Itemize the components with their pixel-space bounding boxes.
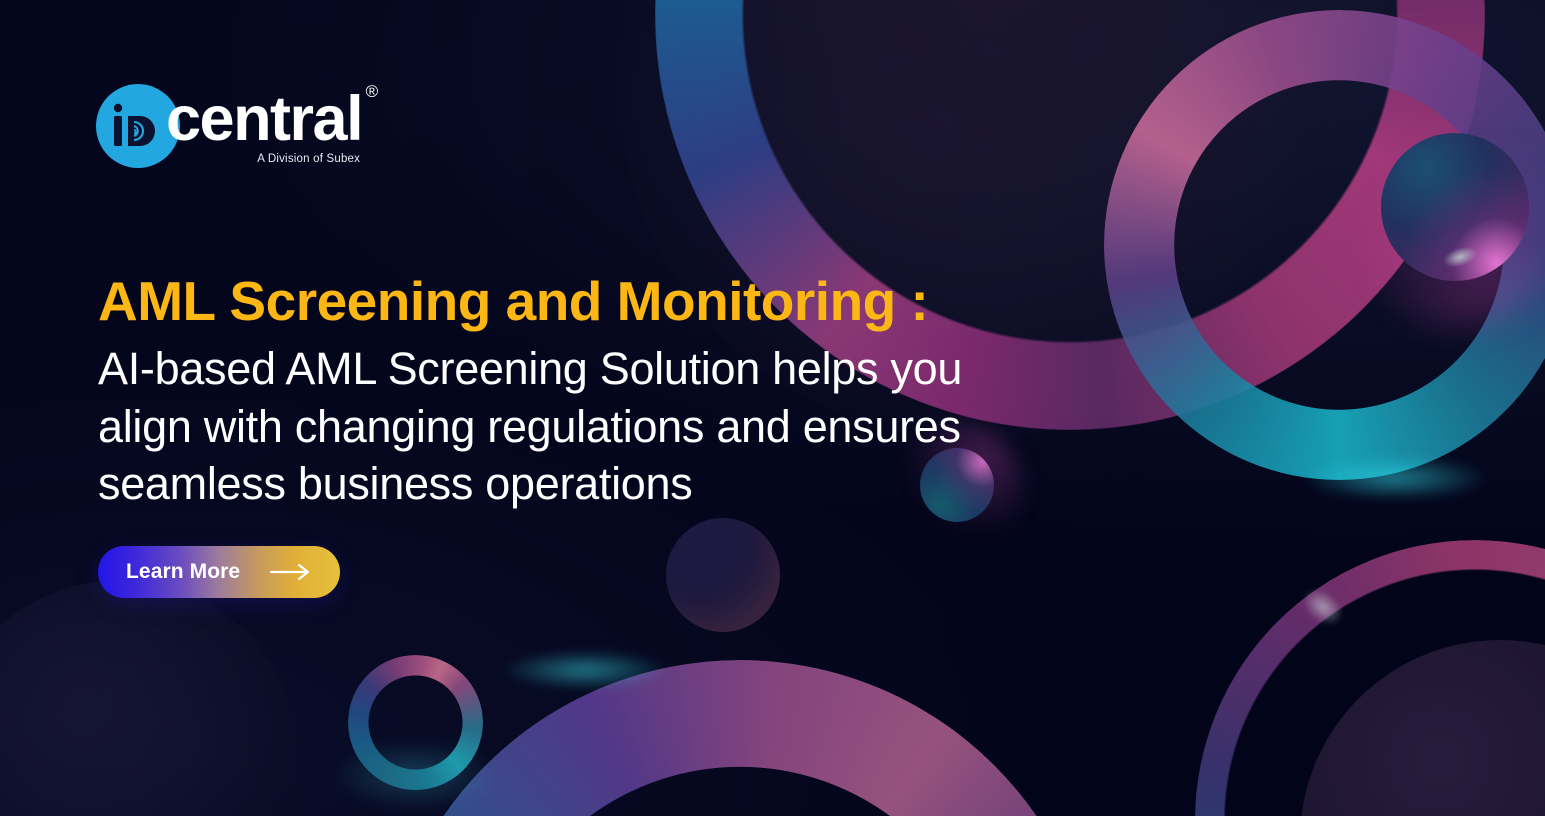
gradient-torus-left xyxy=(348,655,483,790)
registered-trademark-icon: ® xyxy=(366,82,379,102)
brand-logo[interactable]: central ® A Division of Subex xyxy=(96,84,362,168)
sphere-right-specular xyxy=(1441,243,1479,271)
sphere-right-halo xyxy=(1355,100,1545,330)
arrow-right-icon xyxy=(270,563,312,581)
dark-sphere-center xyxy=(666,518,780,632)
brand-tagline: A Division of Subex xyxy=(166,153,362,165)
ring-bottom-right-specular xyxy=(1296,581,1351,633)
page-subtitle: AI-based AML Screening Solution helps yo… xyxy=(98,340,1058,513)
hero-copy: AML Screening and Monitoring : AI-based … xyxy=(98,272,1098,513)
learn-more-label: Learn More xyxy=(126,560,240,584)
page-title: AML Screening and Monitoring : xyxy=(98,272,1098,330)
outline-circle-bottom-glow xyxy=(500,650,670,690)
outline-circle-right-glow xyxy=(1300,455,1490,501)
glowing-sphere-right xyxy=(1381,133,1529,281)
faint-disc-bottom-left xyxy=(0,580,300,816)
hero-banner: central ® A Division of Subex AML Screen… xyxy=(0,0,1545,816)
brand-wordmark: central xyxy=(166,88,362,151)
outline-circle-right xyxy=(1104,10,1545,480)
outline-circle-bottom xyxy=(380,660,1100,816)
ring-bottom-right-core xyxy=(1300,640,1545,816)
learn-more-button[interactable]: Learn More xyxy=(98,546,340,598)
brand-wordmark-group: central ® A Division of Subex xyxy=(166,84,362,165)
gradient-ring-bottom-right xyxy=(1195,540,1545,816)
torus-glow xyxy=(330,740,500,810)
